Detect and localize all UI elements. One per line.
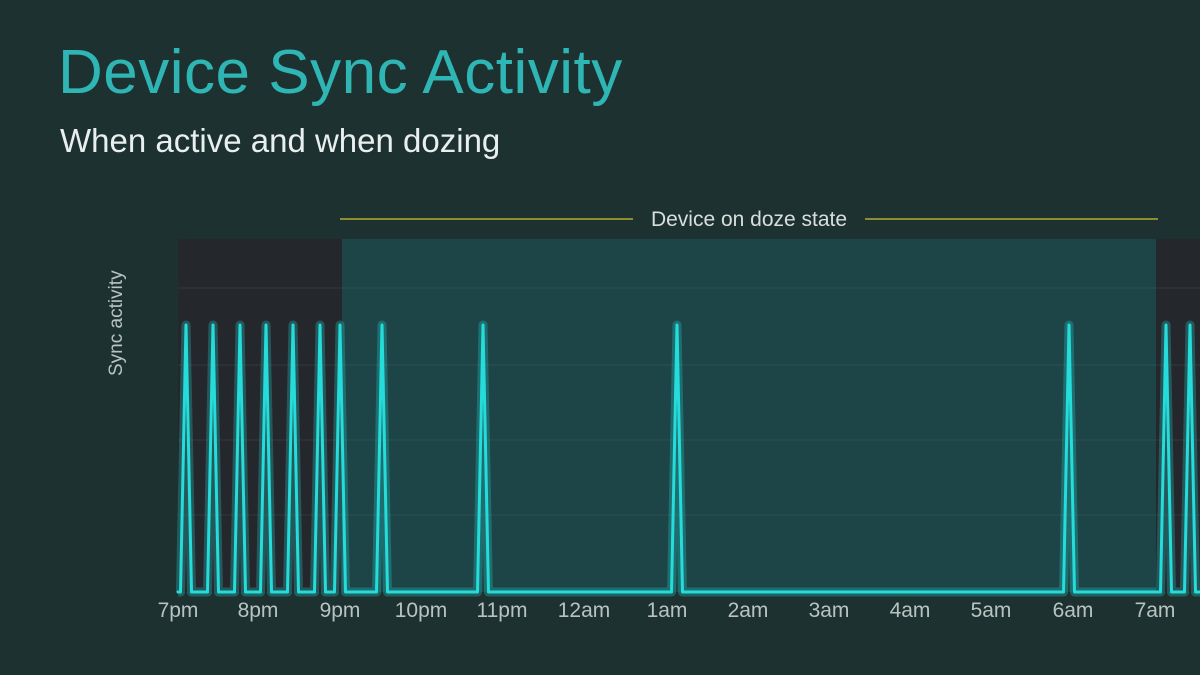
x-tick-label: 6am xyxy=(1053,600,1094,621)
slide-canvas: Device Sync Activity When active and whe… xyxy=(0,0,1200,675)
x-tick-label: 10pm xyxy=(395,600,448,621)
x-tick-label: 4am xyxy=(890,600,931,621)
state-region-doze xyxy=(342,239,1156,592)
x-tick-label: 3am xyxy=(809,600,850,621)
sync-activity-chart: Device on doze state Sync activity 7pm8p… xyxy=(0,0,1200,675)
plot-area xyxy=(0,0,1200,675)
x-tick-label: 7pm xyxy=(158,600,199,621)
x-tick-label: 8pm xyxy=(238,600,279,621)
x-tick-label: 12am xyxy=(558,600,611,621)
x-tick-label: 7am xyxy=(1135,600,1176,621)
x-tick-label: 1am xyxy=(647,600,688,621)
x-tick-label: 11pm xyxy=(477,600,528,621)
x-tick-label: 5am xyxy=(971,600,1012,621)
x-tick-label: 2am xyxy=(728,600,769,621)
x-tick-label: 9pm xyxy=(320,600,361,621)
x-axis-tick-labels: 7pm8pm9pm10pm11pm12am1am2am3am4am5am6am7… xyxy=(0,600,1200,634)
y-axis-label: Sync activity xyxy=(106,246,128,376)
